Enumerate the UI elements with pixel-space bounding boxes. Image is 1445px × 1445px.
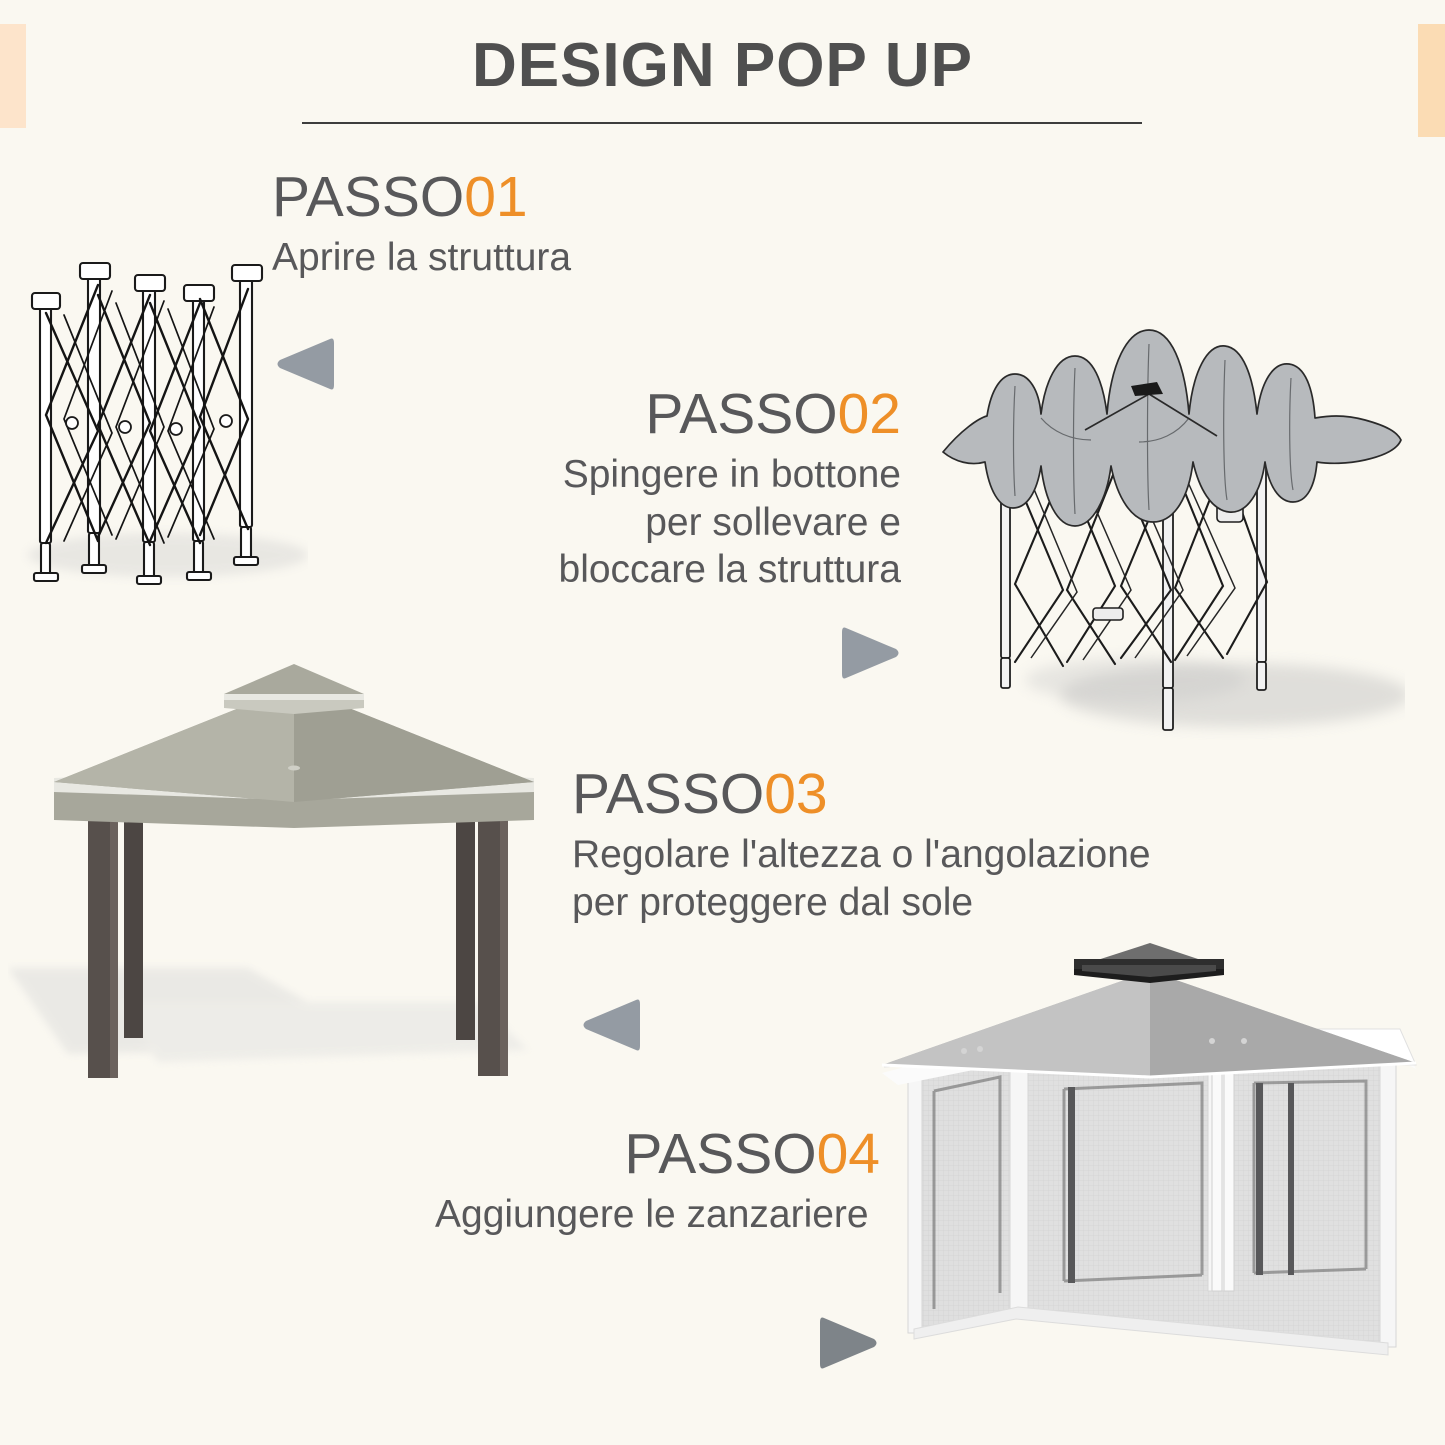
triangle-left-icon — [272, 333, 336, 395]
step-3-description: Regolare l'altezza o l'angolazione per p… — [572, 831, 1151, 926]
corner-accent-right — [1418, 24, 1445, 137]
step-3-number: 03 — [764, 762, 827, 826]
step-4-illustration — [868, 925, 1423, 1385]
title-divider — [302, 122, 1142, 124]
step-2-description: Spingere in bottone per sollevare e bloc… — [503, 451, 901, 594]
step-1-illustration — [18, 255, 308, 605]
half-open-gazebo-icon — [935, 290, 1405, 740]
step-1-text: PASSO01 Aprire la struttura — [272, 168, 571, 282]
triangle-left-icon — [578, 994, 642, 1056]
corner-accent-left — [0, 24, 26, 128]
page-title: DESIGN POP UP — [300, 30, 1145, 101]
step-1-heading: PASSO01 — [272, 168, 571, 226]
step-2-heading: PASSO02 — [503, 385, 901, 443]
step-3-label: PASSO — [572, 762, 764, 826]
step-3-text: PASSO03 Regolare l'altezza o l'angolazio… — [572, 765, 1151, 926]
triangle-right-icon — [840, 622, 904, 684]
step-4-label: PASSO — [624, 1122, 816, 1186]
step-2-text: PASSO02 Spingere in bottone per sollevar… — [503, 385, 901, 594]
step-1-description: Aprire la struttura — [272, 234, 571, 282]
step-1-number: 01 — [464, 165, 527, 229]
step-4-text: PASSO04 Aggiungere le zanzariere — [435, 1125, 880, 1239]
step-1-label: PASSO — [272, 165, 464, 229]
step-2-number: 02 — [838, 382, 901, 446]
infographic-page: DESIGN POP UP — [0, 0, 1445, 1445]
assembled-gazebo-icon — [8, 650, 568, 1090]
folded-gazebo-frame-icon — [18, 255, 308, 605]
step-4-description: Aggiungere le zanzariere — [435, 1191, 880, 1239]
gazebo-with-mosquito-nets-icon — [868, 925, 1423, 1385]
step-2-illustration — [935, 290, 1405, 740]
step-2-label: PASSO — [645, 382, 837, 446]
step-3-heading: PASSO03 — [572, 765, 1151, 823]
step-3-illustration — [8, 650, 568, 1090]
step-4-heading: PASSO04 — [435, 1125, 880, 1183]
